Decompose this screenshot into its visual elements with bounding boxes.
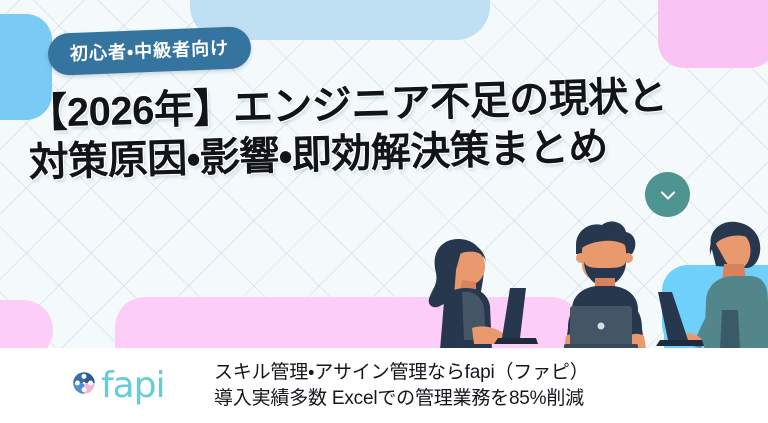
footer-bar: fapi スキル管理・アサイン管理ならfapi（ファピ） 導入実績多数 Exce… [0,348,768,423]
footer-tagline-line-1: スキル管理・アサイン管理ならfapi（ファピ） [214,360,589,386]
banner-canvas: 初心者・中級者向け 【2026年】エンジニア不足の現状と 対策原因・影響・即効解… [0,0,768,423]
page-title: 【2026年】エンジニア不足の現状と 対策原因・影響・即効解決策まとめ [27,70,755,188]
fapi-wordmark: fapi [101,368,165,404]
three-people-with-laptops-illustration [400,210,768,350]
audience-badge: 初心者・中級者向け [47,26,252,76]
footer-tagline-line-2: 導入実績多数 Excelでの管理業務を85%削減 [214,386,589,412]
person-bearded-man [564,221,646,350]
person-woman [429,239,538,350]
decor-rounded-square-top-right [658,0,768,68]
fapi-logo[interactable]: fapi [72,368,200,404]
puzzle-circle-icon [72,371,96,400]
footer-tagline: スキル管理・アサイン管理ならfapi（ファピ） 導入実績多数 Excelでの管理… [214,360,589,411]
